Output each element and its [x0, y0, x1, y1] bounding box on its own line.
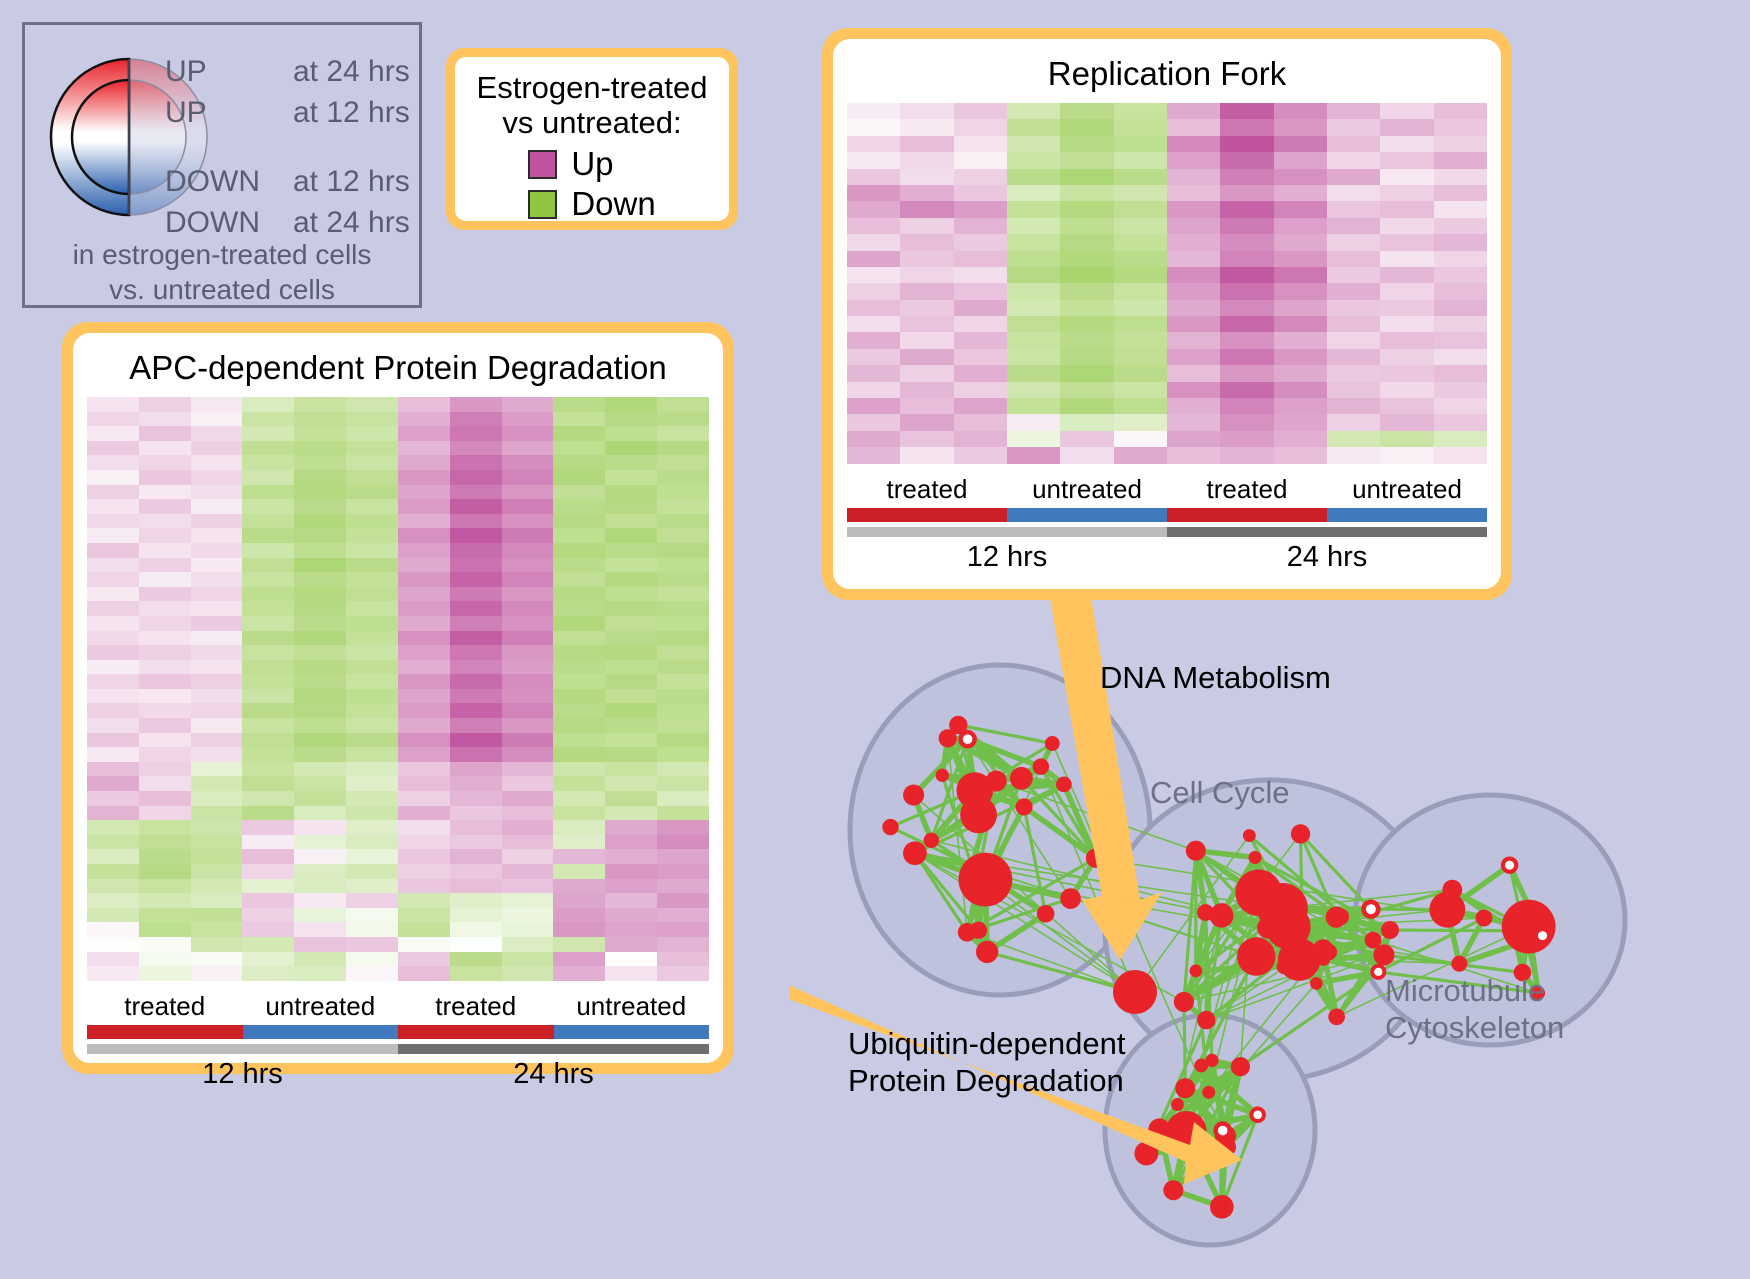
heatmap-cell: [553, 966, 605, 981]
heatmap-cell: [1220, 398, 1273, 414]
bar-treated-24: [1167, 508, 1327, 522]
network-node[interactable]: [1365, 932, 1382, 949]
heatmap-cell: [139, 645, 191, 660]
axis-group-label-1: untreated: [243, 991, 399, 1022]
network-node[interactable]: [1037, 905, 1055, 923]
heatmap-cell: [139, 572, 191, 587]
heatmap-cell: [139, 762, 191, 777]
heatmap-cell: [1380, 431, 1433, 447]
heatmap-cell: [1380, 136, 1433, 152]
heatmap-cell: [553, 674, 605, 689]
heatmap-cell: [242, 616, 294, 631]
legend-label-up: Up: [571, 145, 613, 183]
heatmap-cell: [1380, 414, 1433, 430]
heatmap-cell: [346, 849, 398, 864]
axis-time-bar-apc: [87, 1044, 709, 1054]
heatmap-cell: [242, 893, 294, 908]
heatmap-cell: [294, 514, 346, 529]
heatmap-cell: [1434, 234, 1487, 250]
network-node[interactable]: [1237, 937, 1275, 975]
heatmap-cell: [1114, 431, 1167, 447]
heatmap-cell: [1060, 152, 1113, 168]
network-node[interactable]: [903, 784, 924, 805]
heatmap-cell: [1434, 349, 1487, 365]
heatmap-cell: [294, 499, 346, 514]
heatmap-cell: [954, 382, 1007, 398]
heatmap-cell: [1380, 332, 1433, 348]
heatmap-cell: [1167, 365, 1220, 381]
node-outer-circle: [1194, 1059, 1208, 1073]
network-node[interactable]: [1451, 956, 1467, 972]
network-node[interactable]: [1310, 977, 1323, 990]
axis-group-label-2: treated: [398, 991, 554, 1022]
heatmap-cell: [1274, 431, 1327, 447]
heatmap-cell: [657, 922, 709, 937]
legend-when-up-12: at 12 hrs: [293, 96, 410, 130]
network-node[interactable]: [882, 819, 898, 835]
heatmap-cell: [450, 776, 502, 791]
heatmap-cell: [242, 835, 294, 850]
heatmap-cell: [87, 922, 139, 937]
heatmap-cell: [398, 499, 450, 514]
heatmap-cell: [242, 412, 294, 427]
heatmap-cell: [87, 689, 139, 704]
node-inner-circle: [1296, 829, 1306, 839]
cluster-label-ubiquitin: Ubiquitin-dependent Protein Degradation: [848, 1025, 1126, 1099]
network-node[interactable]: [1257, 917, 1278, 938]
heatmap-cell: [1060, 234, 1113, 250]
network-node[interactable]: [976, 941, 998, 963]
heatmap-cell: [1114, 300, 1167, 316]
network-node[interactable]: [1534, 927, 1551, 944]
heatmap-cell: [657, 587, 709, 602]
heatmap-cell: [1167, 103, 1220, 119]
heatmap-cell: [1007, 332, 1060, 348]
network-node[interactable]: [1016, 798, 1033, 815]
heatmap-cell: [954, 169, 1007, 185]
heatmap-cell: [657, 499, 709, 514]
network-node[interactable]: [1296, 925, 1309, 938]
heatmap-cell: [87, 937, 139, 952]
node-outer-circle: [1163, 1180, 1183, 1200]
network-node[interactable]: [1010, 767, 1033, 790]
heatmap-cell: [657, 747, 709, 762]
heatmap-cell: [398, 703, 450, 718]
heatmap-cell: [346, 689, 398, 704]
network-node[interactable]: [1231, 1057, 1250, 1076]
heatmap-cell: [294, 528, 346, 543]
heatmap-cell: [191, 908, 243, 923]
heatmap-cell: [1167, 316, 1220, 332]
heatmap-cell: [87, 820, 139, 835]
heatmap-cell: [502, 499, 554, 514]
heatmap-cell: [242, 791, 294, 806]
network-node[interactable]: [1197, 1011, 1215, 1029]
heatmap-cell: [900, 136, 953, 152]
network-node[interactable]: [1328, 1008, 1345, 1025]
heatmap-cell: [502, 543, 554, 558]
heatmap-cell: [1060, 283, 1113, 299]
heatmap-cell: [605, 908, 657, 923]
heatmap-cell: [502, 528, 554, 543]
node-outer-circle: [1171, 1098, 1184, 1111]
network-node[interactable]: [986, 770, 1007, 791]
network-node[interactable]: [1381, 921, 1399, 939]
heatmap-cell: [294, 820, 346, 835]
network-node[interactable]: [1175, 1078, 1195, 1098]
heatmap-cell: [294, 455, 346, 470]
heatmap-cell: [1274, 234, 1327, 250]
heatmap-cell: [605, 572, 657, 587]
heatmap-cell: [1434, 218, 1487, 234]
heatmap-cell: [1167, 201, 1220, 217]
heatmap-cell: [398, 485, 450, 500]
heatmap-cell: [502, 733, 554, 748]
heatmap-cell: [1274, 185, 1327, 201]
network-node[interactable]: [1291, 824, 1310, 843]
heatmap-cell: [954, 332, 1007, 348]
heatmap-cell: [346, 455, 398, 470]
heatmap-cell: [87, 543, 139, 558]
heatmap-cell: [346, 806, 398, 821]
heatmap-cell: [1327, 234, 1380, 250]
axis-group-labels-replication: treateduntreatedtreateduntreated: [847, 474, 1487, 505]
network-node[interactable]: [1213, 1121, 1232, 1140]
heatmap-cell: [1060, 185, 1113, 201]
heatmap-cell: [657, 397, 709, 412]
heatmap-cell: [1220, 136, 1273, 152]
heatmap-cell: [502, 849, 554, 864]
heatmap-cell: [87, 616, 139, 631]
network-node[interactable]: [1320, 944, 1337, 961]
heatmap-cell: [242, 426, 294, 441]
network-node[interactable]: [1056, 777, 1072, 793]
heatmap-cell: [900, 234, 953, 250]
heatmap-cell: [954, 398, 1007, 414]
node-inner-circle: [909, 847, 921, 859]
heatmap-cell: [1327, 398, 1380, 414]
heatmap-cell: [294, 397, 346, 412]
heatmap-cell: [1167, 382, 1220, 398]
heatmap-cell: [1274, 283, 1327, 299]
heatmap-cell: [87, 426, 139, 441]
heatmap-cell: [657, 485, 709, 500]
heatmap-cell: [1220, 300, 1273, 316]
network-node[interactable]: [1189, 964, 1202, 977]
node-outer-circle: [1037, 905, 1055, 923]
heatmap-cell: [657, 616, 709, 631]
heatmap-cell: [294, 922, 346, 937]
heatmap-cell: [242, 674, 294, 689]
network-node[interactable]: [1211, 903, 1233, 925]
heatmap-cell: [450, 966, 502, 981]
heatmap-cell: [502, 674, 554, 689]
network-node[interactable]: [1033, 758, 1049, 774]
heatmap-cell: [1380, 103, 1433, 119]
heatmap-cell: [1434, 152, 1487, 168]
heatmap-cell: [398, 849, 450, 864]
heatmap-cell: [1060, 169, 1113, 185]
heatmap-cell: [346, 499, 398, 514]
network-node[interactable]: [939, 729, 957, 747]
heatmap-cell: [398, 514, 450, 529]
heatmap-cell: [294, 703, 346, 718]
heatmap-cell: [139, 908, 191, 923]
heatmap-cell: [242, 514, 294, 529]
heatmap-cell: [553, 733, 605, 748]
heatmap-cell: [346, 747, 398, 762]
network-node[interactable]: [1163, 1180, 1183, 1200]
heatmap-cell: [553, 441, 605, 456]
heatmap-cell: [398, 791, 450, 806]
node-inner-circle: [1205, 1089, 1212, 1096]
heatmap-cell: [847, 136, 900, 152]
bar-12hrs: [847, 527, 1167, 537]
heatmap-cell: [900, 414, 953, 430]
network-node[interactable]: [1248, 851, 1261, 864]
heatmap-cell: [900, 103, 953, 119]
network-node[interactable]: [1194, 1059, 1208, 1073]
heatmap-cell: [294, 806, 346, 821]
heatmap-cell: [191, 776, 243, 791]
heatmap-cell: [1434, 447, 1487, 463]
heatmap-cell: [1380, 267, 1433, 283]
heatmap-cell: [954, 300, 1007, 316]
heatmap-cell: [553, 660, 605, 675]
heatmap-cell: [502, 485, 554, 500]
heatmap-cell: [450, 631, 502, 646]
heatmap-cell: [553, 791, 605, 806]
heatmap-cell: [900, 251, 953, 267]
heatmap-cell: [139, 835, 191, 850]
heatmap-cell: [1220, 218, 1273, 234]
network-node[interactable]: [1174, 992, 1194, 1012]
heatmap-cell: [502, 703, 554, 718]
heatmap-cell: [605, 791, 657, 806]
heatmap-cell: [847, 169, 900, 185]
heatmap-cell: [346, 718, 398, 733]
network-node[interactable]: [1501, 856, 1518, 873]
heatmap-cell: [450, 558, 502, 573]
heatmap-cell: [398, 966, 450, 981]
heatmap-cell: [954, 365, 1007, 381]
heatmap-cell: [605, 849, 657, 864]
heatmap-cell: [1167, 332, 1220, 348]
heatmap-cell: [657, 806, 709, 821]
heatmap-cell: [1060, 398, 1113, 414]
heatmap-cell: [502, 660, 554, 675]
heatmap-cell: [398, 601, 450, 616]
heatmap-cell: [242, 806, 294, 821]
heatmap-cell: [398, 616, 450, 631]
heatmap-cell: [450, 470, 502, 485]
heatmap-cell: [605, 616, 657, 631]
heatmap-cell: [242, 528, 294, 543]
heatmap-cell: [450, 499, 502, 514]
heatmap-cell: [605, 952, 657, 967]
heatmap-cell: [139, 674, 191, 689]
legend-when-up-24: at 24 hrs: [293, 55, 410, 89]
heatmap-cell: [191, 528, 243, 543]
axis-time-label-0: 12 hrs: [87, 1058, 398, 1091]
heatmap-cell: [139, 689, 191, 704]
network-node[interactable]: [964, 859, 979, 874]
network-node[interactable]: [1277, 959, 1293, 975]
heatmap-cell: [242, 572, 294, 587]
heatmap-cell: [553, 587, 605, 602]
node-outer-circle: [1476, 910, 1493, 927]
network-node[interactable]: [1202, 1086, 1215, 1099]
heatmap-apc-degradation: [87, 397, 709, 981]
heatmap-cell: [1434, 267, 1487, 283]
network-node[interactable]: [1113, 970, 1157, 1014]
network-node[interactable]: [1171, 1098, 1184, 1111]
panel-title-replication: Replication Fork: [847, 55, 1487, 93]
legend-row-up-24: UP at 24 hrs: [165, 55, 415, 96]
node-outer-circle: [1174, 992, 1194, 1012]
heatmap-cell: [1167, 185, 1220, 201]
network-node[interactable]: [1210, 1195, 1234, 1219]
legend-footer-line2: vs. untreated cells: [25, 272, 419, 307]
heatmap-cell: [657, 718, 709, 733]
legend-item-down: Down: [528, 184, 655, 224]
heatmap-cell: [294, 543, 346, 558]
network-node[interactable]: [960, 796, 997, 833]
heatmap-cell: [346, 441, 398, 456]
heatmap-cell: [1007, 300, 1060, 316]
heatmap-cell: [139, 820, 191, 835]
node-outer-circle: [1310, 977, 1323, 990]
heatmap-cell: [954, 267, 1007, 283]
heatmap-cell: [1007, 382, 1060, 398]
heatmap-cell: [1327, 267, 1380, 283]
heatmap-cell: [87, 718, 139, 733]
heatmap-cell: [346, 835, 398, 850]
heatmap-cell: [502, 806, 554, 821]
heatmap-cell: [605, 528, 657, 543]
heatmap-cell: [139, 893, 191, 908]
heatmap-cell: [294, 966, 346, 981]
heatmap-cell: [900, 283, 953, 299]
network-node[interactable]: [1235, 870, 1281, 916]
heatmap-cell: [346, 922, 398, 937]
axis-group-label-3: untreated: [554, 991, 710, 1022]
heatmap-cell: [1327, 382, 1380, 398]
network-node[interactable]: [924, 833, 939, 848]
heatmap-cell: [242, 689, 294, 704]
heatmap-cell: [1220, 267, 1273, 283]
axis-apc: treateduntreatedtreateduntreated 12 hrs2…: [87, 991, 709, 1091]
heatmap-cell: [1060, 300, 1113, 316]
heatmap-cell: [657, 820, 709, 835]
heatmap-cell: [553, 514, 605, 529]
heatmap-cell: [657, 864, 709, 879]
heatmap-cell: [1380, 300, 1433, 316]
network-node[interactable]: [936, 769, 949, 782]
heatmap-cell: [346, 397, 398, 412]
heatmap-cell: [398, 470, 450, 485]
heatmap-cell: [1380, 365, 1433, 381]
network-node[interactable]: [1243, 829, 1256, 842]
heatmap-cell: [847, 201, 900, 217]
network-node[interactable]: [1060, 888, 1081, 909]
network-node[interactable]: [1361, 900, 1380, 919]
heatmap-cell: [605, 397, 657, 412]
heatmap-cell: [502, 412, 554, 427]
network-node[interactable]: [1442, 880, 1462, 900]
network-node[interactable]: [1045, 736, 1060, 751]
network-node[interactable]: [1476, 910, 1493, 927]
heatmap-cell: [87, 485, 139, 500]
heatmap-cell: [553, 645, 605, 660]
heatmap-cell: [1007, 431, 1060, 447]
heatmap-cell: [191, 922, 243, 937]
heatmap-cell: [1007, 398, 1060, 414]
heatmap-cell: [450, 689, 502, 704]
heatmap-cell: [1060, 382, 1113, 398]
heatmap-cell: [1274, 218, 1327, 234]
heatmap-cell: [657, 849, 709, 864]
heatmap-cell: [605, 587, 657, 602]
legend-up-down: Estrogen-treated vs untreated: Up Down: [446, 48, 738, 230]
heatmap-cell: [139, 849, 191, 864]
heatmap-cell: [605, 718, 657, 733]
heatmap-cell: [553, 543, 605, 558]
node-outer-circle: [970, 922, 987, 939]
heatmap-cell: [605, 441, 657, 456]
network-node[interactable]: [1506, 923, 1522, 939]
heatmap-cell: [87, 499, 139, 514]
network-node[interactable]: [903, 841, 927, 865]
heatmap-cell: [847, 365, 900, 381]
network-node[interactable]: [1186, 841, 1206, 861]
network-node[interactable]: [1333, 908, 1350, 925]
heatmap-cell: [139, 543, 191, 558]
heatmap-cell: [294, 631, 346, 646]
heatmap-cell: [605, 426, 657, 441]
heatmap-cell: [398, 455, 450, 470]
network-node[interactable]: [1249, 1107, 1266, 1124]
network-node[interactable]: [1370, 964, 1386, 980]
heatmap-cell: [502, 572, 554, 587]
heatmap-cell: [191, 703, 243, 718]
heatmap-cell: [294, 616, 346, 631]
heatmap-cell: [1434, 201, 1487, 217]
legend-row-up-12: UP at 12 hrs: [165, 96, 415, 137]
heatmap-cell: [346, 820, 398, 835]
network-node[interactable]: [970, 922, 987, 939]
heatmap-cell: [553, 820, 605, 835]
heatmap-cell: [605, 412, 657, 427]
heatmap-cell: [450, 879, 502, 894]
heatmap-cell: [191, 645, 243, 660]
legend-when-down-12: at 12 hrs: [293, 165, 410, 199]
heatmap-cell: [139, 441, 191, 456]
heatmap-cell: [1114, 332, 1167, 348]
heatmap-cell: [191, 952, 243, 967]
heatmap-cell: [1274, 267, 1327, 283]
heatmap-cell: [1327, 218, 1380, 234]
legend-word-down-12: DOWN: [165, 165, 293, 199]
heatmap-cell: [87, 397, 139, 412]
heatmap-cell: [346, 703, 398, 718]
heatmap-cell: [87, 835, 139, 850]
heatmap-cell: [954, 431, 1007, 447]
heatmap-cell: [450, 849, 502, 864]
heatmap-cell: [398, 922, 450, 937]
heatmap-cell: [900, 218, 953, 234]
heatmap-cell: [450, 908, 502, 923]
